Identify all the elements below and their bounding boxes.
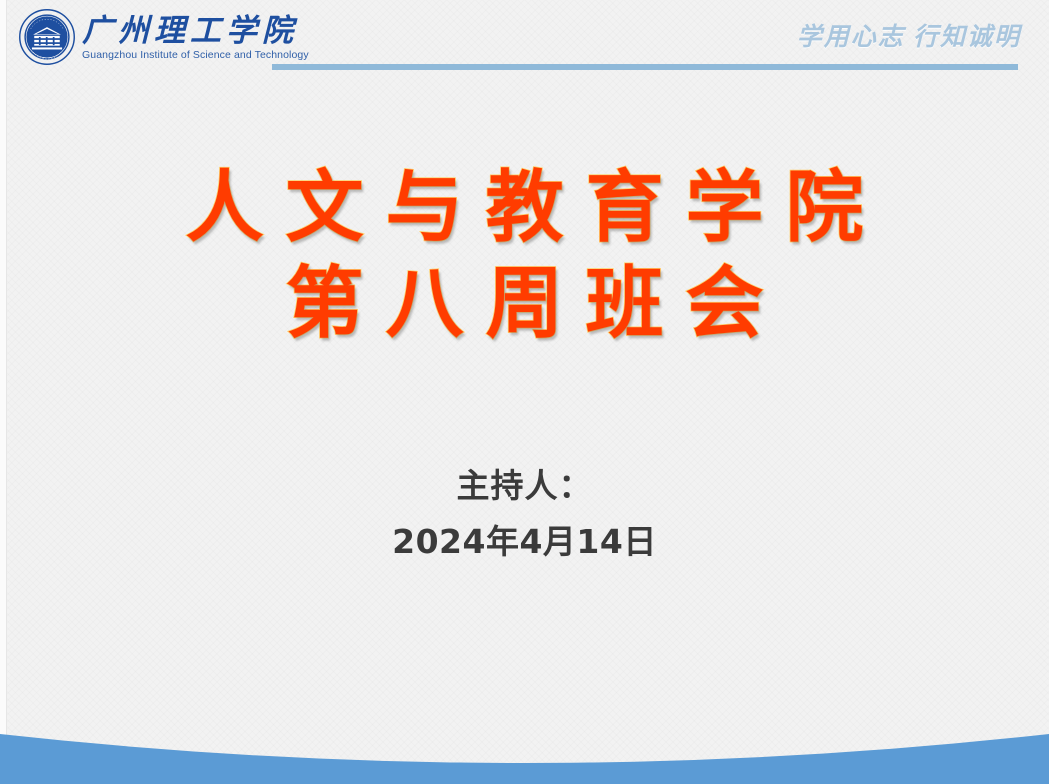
slide-header: 广州理工学院 Guangzhou Institute of Science an… [0,0,1049,84]
title-line-1: 人文与教育学院 [0,160,1049,256]
presentation-date: 2024年4月14日 [0,516,1049,568]
university-seal-icon [18,8,76,66]
institution-name-cn: 广州理工学院 [82,13,309,49]
institution-name-en: Guangzhou Institute of Science and Techn… [82,49,309,61]
slide-background-texture [0,0,1049,784]
bottom-curve-decoration [0,694,1049,784]
header-divider-rule [272,64,1018,70]
university-motto: 学用心志 行知诚明 [797,17,1021,53]
slide-subtitle: 主持人： 2024年4月14日 [0,462,1049,568]
slide-title: 人文与教育学院 第八周班会 [0,160,1049,352]
title-line-2: 第八周班会 [0,256,1049,352]
university-logo: 广州理工学院 Guangzhou Institute of Science an… [18,8,309,66]
logo-wordmark: 广州理工学院 Guangzhou Institute of Science an… [82,13,309,62]
presentation-slide: 广州理工学院 Guangzhou Institute of Science an… [0,0,1049,784]
host-label: 主持人： [0,462,1049,510]
left-edge-gutter [0,0,7,784]
